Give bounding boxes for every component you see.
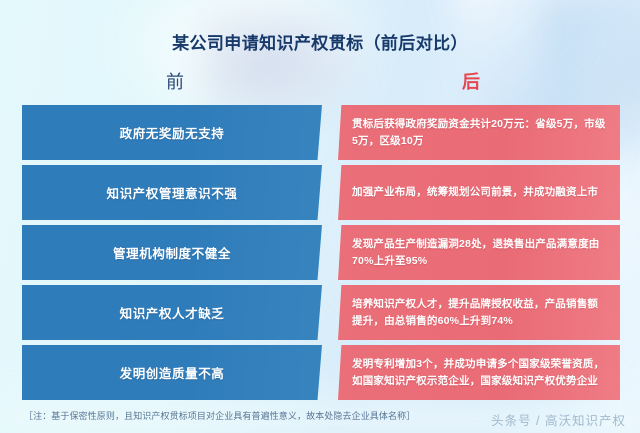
- comparison-row: 知识产权人才缺乏 培养知识产权人才，提升品牌授权收益，产品销售额提升，由总销售的…: [0, 285, 640, 340]
- before-bar-label: 管理机构制度不健全: [113, 243, 231, 262]
- comparison-row: 知识产权管理意识不强 加强产业布局，统筹规划公司前景，并成功融资上市: [0, 165, 640, 220]
- before-bar-label: 知识产权人才缺乏: [120, 303, 225, 322]
- after-bar-label: 发明专利增加3个，并成功申请多个国家级荣誉资质，如国家知识产权示范企业，国家级知…: [352, 356, 608, 389]
- after-bar-label: 培养知识产权人才，提升品牌授权收益，产品销售额提升，由总销售的60%上升到74%: [352, 296, 608, 329]
- after-bar-label: 加强产业布局，统筹规划公司前景，并成功融资上市: [352, 184, 598, 200]
- after-bar: 加强产业布局，统筹规划公司前景，并成功融资上市: [338, 165, 620, 220]
- before-bar-label: 政府无奖励无支持: [120, 123, 225, 142]
- before-bar: 知识产权人才缺乏: [22, 285, 322, 340]
- before-bar: 政府无奖励无支持: [22, 105, 322, 160]
- comparison-row: 政府无奖励无支持 贯标后获得政府奖励资金共计20万元：省级5万，市级5万，区级1…: [0, 105, 640, 160]
- comparison-rows: 政府无奖励无支持 贯标后获得政府奖励资金共计20万元：省级5万，市级5万，区级1…: [0, 0, 640, 433]
- comparison-row: 发明创造质量不高 发明专利增加3个，并成功申请多个国家级荣誉资质，如国家知识产权…: [0, 345, 640, 400]
- after-bar-label: 贯标后获得政府奖励资金共计20万元：省级5万，市级5万，区级10万: [352, 116, 608, 149]
- footnote-disclaimer: ［注：基于保密性原则，且知识产权贯标项目对企业具有普遍性意义，故本处隐去企业具体…: [24, 409, 415, 422]
- after-bar: 培养知识产权人才，提升品牌授权收益，产品销售额提升，由总销售的60%上升到74%: [338, 285, 620, 340]
- infographic-canvas: 某公司申请知识产权贯标（前后对比） 前 后 政府无奖励无支持 贯标后获得政府奖励…: [0, 0, 640, 433]
- before-bar: 知识产权管理意识不强: [22, 165, 322, 220]
- comparison-row: 管理机构制度不健全 发现产品生产制造漏洞28处，退换售出产品满意度由70%上升至…: [0, 225, 640, 280]
- before-bar-label: 知识产权管理意识不强: [106, 183, 237, 202]
- after-bar-label: 发现产品生产制造漏洞28处，退换售出产品满意度由70%上升至95%: [352, 236, 608, 269]
- watermark-attribution: 头条号 / 高沃知识产权: [491, 410, 626, 429]
- before-bar: 管理机构制度不健全: [22, 225, 322, 280]
- before-bar-label: 发明创造质量不高: [120, 363, 225, 382]
- after-bar: 发现产品生产制造漏洞28处，退换售出产品满意度由70%上升至95%: [338, 225, 620, 280]
- after-bar: 发明专利增加3个，并成功申请多个国家级荣誉资质，如国家知识产权示范企业，国家级知…: [338, 345, 620, 400]
- after-bar: 贯标后获得政府奖励资金共计20万元：省级5万，市级5万，区级10万: [338, 105, 620, 160]
- before-bar: 发明创造质量不高: [22, 345, 322, 400]
